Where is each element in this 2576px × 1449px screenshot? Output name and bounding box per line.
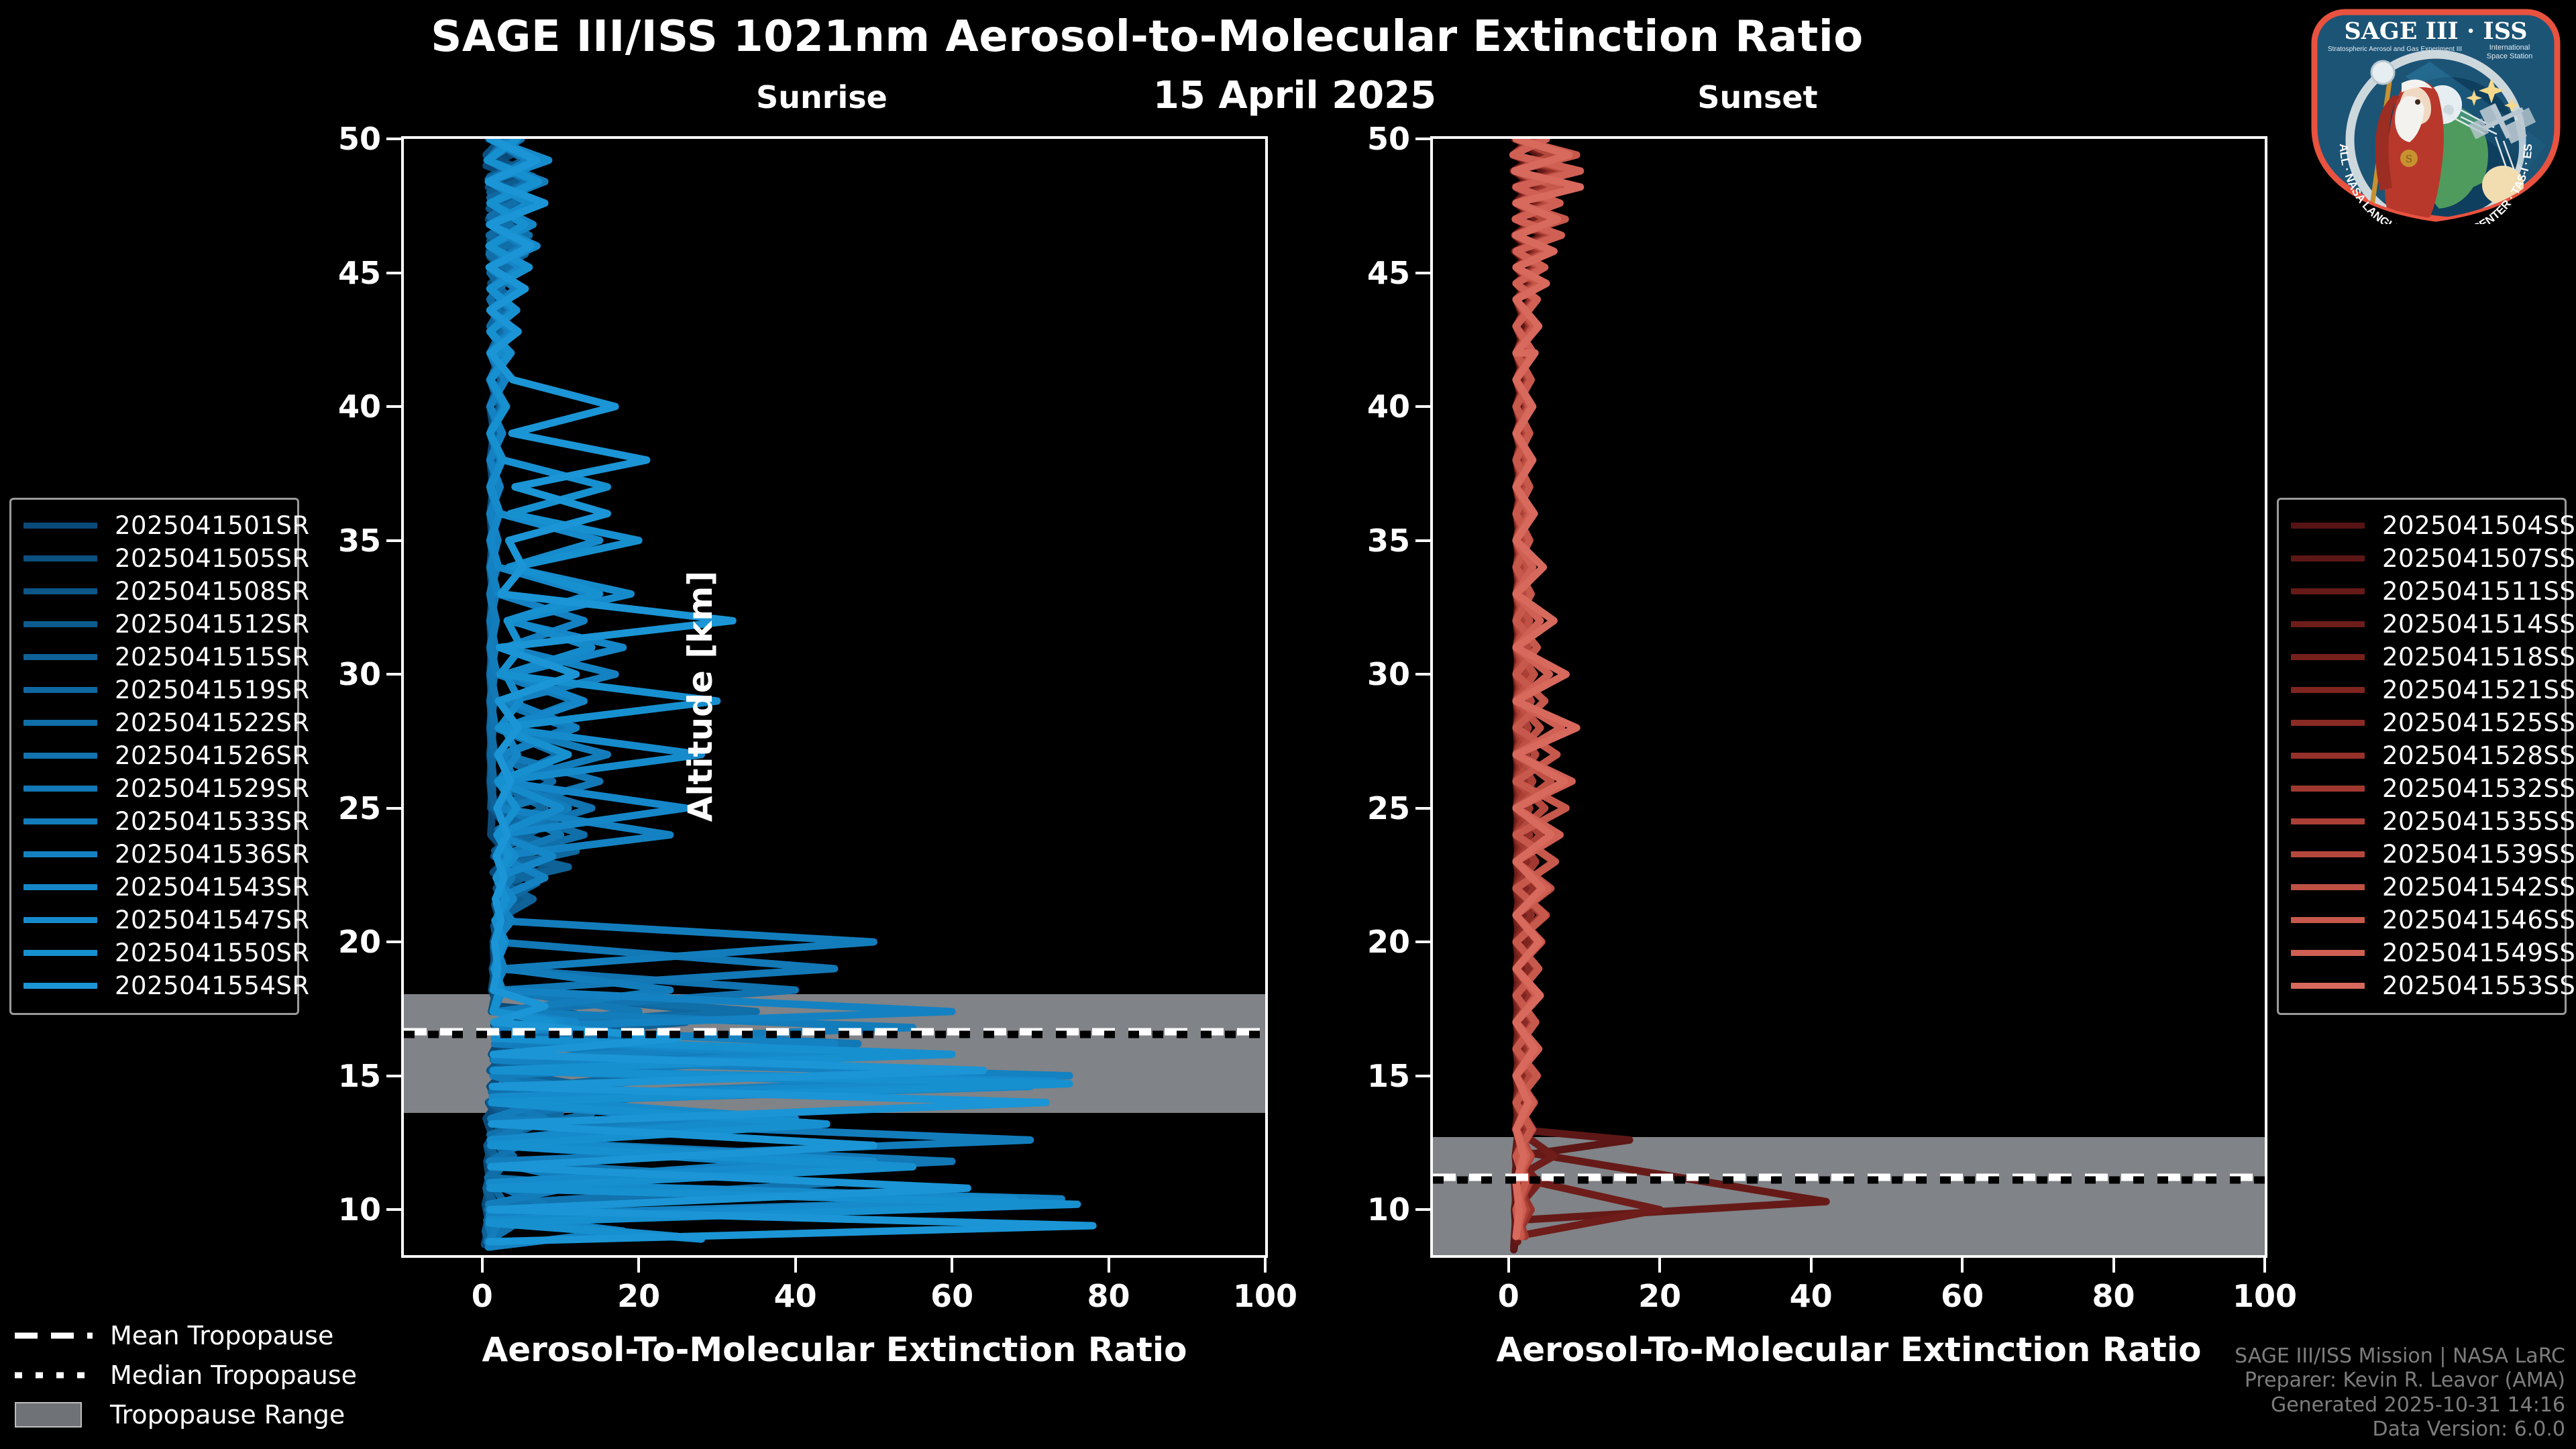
legend-item-2025041528SS[interactable]: 2025041528SS (2291, 739, 2553, 772)
legend-label: 2025041542SS (2382, 873, 2575, 902)
x-axis-tick-label: 100 (2204, 1278, 2325, 1314)
legend-label: 2025041518SS (2382, 643, 2575, 672)
legend-sunrise-events[interactable]: 2025041501SR2025041505SR2025041508SR2025… (9, 498, 299, 1015)
legend-label: 2025041507SS (2382, 544, 2575, 573)
y-axis-tick-label: 30 (1330, 656, 1410, 692)
legend-item-2025041542SS[interactable]: 2025041542SS (2291, 871, 2553, 904)
color-swatch-icon (23, 588, 97, 594)
attribution-line: Generated 2025-10-31 14:16 (2235, 1393, 2565, 1418)
color-swatch-icon (23, 753, 97, 759)
y-axis-tick-mark (1415, 1075, 1430, 1077)
legend-label: 2025041529SR (115, 774, 310, 803)
y-axis-tick-mark (1415, 941, 1430, 943)
legend-item-tropopause-range: Tropopause Range (15, 1395, 364, 1434)
legend-label: 2025041536SR (115, 840, 310, 869)
y-axis-tick-mark (1415, 807, 1430, 810)
color-swatch-icon (23, 818, 97, 824)
color-swatch-icon (23, 917, 97, 923)
legend-item-2025041519SR[interactable]: 2025041519SR (23, 674, 285, 706)
legend-item-2025041504SS[interactable]: 2025041504SS (2291, 509, 2553, 542)
legend-item-2025041526SR[interactable]: 2025041526SR (23, 739, 285, 772)
legend-item-2025041546SS[interactable]: 2025041546SS (2291, 904, 2553, 936)
legend-item-2025041539SS[interactable]: 2025041539SS (2291, 838, 2553, 871)
legend-item-2025041554SR[interactable]: 2025041554SR (23, 969, 285, 1002)
x-axis-tick-mark (1658, 1258, 1661, 1273)
legend-label: 2025041522SR (115, 708, 310, 737)
y-axis-tick-mark (1415, 405, 1430, 408)
legend-label: 2025041526SR (115, 741, 310, 770)
y-axis-tick-label: 10 (1330, 1191, 1410, 1228)
legend-label: 2025041514SS (2382, 610, 2575, 639)
legend-item-2025041529SR[interactable]: 2025041529SR (23, 772, 285, 805)
legend-item-2025041543SR[interactable]: 2025041543SR (23, 871, 285, 904)
legend-label: 2025041511SS (2382, 577, 2575, 606)
legend-label: 2025041535SS (2382, 807, 2575, 836)
y-axis-tick-label: 40 (1330, 388, 1410, 425)
legend-item-2025041507SS[interactable]: 2025041507SS (2291, 542, 2553, 575)
legend-item-2025041549SS[interactable]: 2025041549SS (2291, 936, 2553, 969)
legend-label: Mean Tropopause (110, 1321, 333, 1350)
color-swatch-icon (23, 983, 97, 989)
color-swatch-icon (23, 786, 97, 792)
color-swatch-icon (2291, 818, 2365, 824)
x-axis-tick-mark (1961, 1258, 1964, 1273)
color-swatch-icon (23, 851, 97, 857)
attribution-block: SAGE III/ISS Mission | NASA LaRC Prepare… (2235, 1344, 2565, 1442)
axes-sunset: 101520253035404550020406080100Aerosol-To… (0, 0, 2576, 1449)
legend-label: 2025041539SS (2382, 840, 2575, 869)
legend-label: 2025041525SS (2382, 708, 2575, 737)
color-swatch-icon (2291, 687, 2365, 693)
color-swatch-icon (2291, 555, 2365, 561)
color-swatch-icon (23, 950, 97, 956)
color-swatch-icon (23, 720, 97, 726)
filled-box-icon (15, 1406, 93, 1424)
legend-item-2025041512SR[interactable]: 2025041512SR (23, 608, 285, 641)
y-axis-tick-label: 15 (1330, 1058, 1410, 1094)
legend-label: 2025041549SS (2382, 938, 2575, 967)
x-axis-tick-label: 80 (2053, 1278, 2174, 1314)
legend-label: 2025041508SR (115, 577, 310, 606)
legend-label: 2025041519SR (115, 676, 310, 704)
color-swatch-icon (23, 654, 97, 660)
y-axis-tick-label: 50 (1330, 121, 1410, 157)
color-swatch-icon (2291, 950, 2365, 956)
legend-label: 2025041504SS (2382, 511, 2575, 540)
legend-item-2025041505SR[interactable]: 2025041505SR (23, 542, 285, 575)
color-swatch-icon (2291, 654, 2365, 660)
legend-label: 2025041532SS (2382, 774, 2575, 803)
legend-item-2025041536SR[interactable]: 2025041536SR (23, 838, 285, 871)
legend-item-2025041511SS[interactable]: 2025041511SS (2291, 575, 2553, 608)
x-axis-title: Aerosol-To-Molecular Extinction Ratio (1430, 1330, 2267, 1369)
legend-label: 2025041554SR (115, 971, 310, 1000)
legend-item-2025041508SR[interactable]: 2025041508SR (23, 575, 285, 608)
legend-label: 2025041533SR (115, 807, 310, 836)
y-axis-tick-mark (1415, 673, 1430, 676)
color-swatch-icon (23, 621, 97, 627)
legend-label: 2025041547SR (115, 906, 310, 934)
legend-label: 2025041515SR (115, 643, 310, 672)
color-swatch-icon (2291, 753, 2365, 759)
y-axis-tick-mark (1415, 539, 1430, 542)
legend-item-2025041514SS[interactable]: 2025041514SS (2291, 608, 2553, 641)
legend-label: 2025041528SS (2382, 741, 2575, 770)
legend-label: 2025041546SS (2382, 906, 2575, 934)
y-axis-tick-label: 45 (1330, 255, 1410, 291)
legend-label: Tropopause Range (110, 1400, 345, 1430)
color-swatch-icon (2291, 884, 2365, 890)
y-axis-tick-label: 35 (1330, 523, 1410, 559)
color-swatch-icon (23, 523, 97, 529)
dotted-line-icon (15, 1366, 93, 1384)
attribution-line: Data Version: 6.0.0 (2235, 1417, 2565, 1442)
legend-label: 2025041512SR (115, 610, 310, 639)
x-axis-tick-label: 20 (1599, 1278, 1720, 1314)
dashed-line-icon (15, 1327, 93, 1344)
legend-item-2025041525SS[interactable]: 2025041525SS (2291, 706, 2553, 739)
legend-item-2025041532SS[interactable]: 2025041532SS (2291, 772, 2553, 805)
legend-sunset-events[interactable]: 2025041504SS2025041507SS2025041511SS2025… (2277, 498, 2567, 1015)
legend-item-median-tropopause: Median Tropopause (15, 1355, 364, 1395)
x-axis-tick-mark (2112, 1258, 2115, 1273)
legend-item-2025041535SS[interactable]: 2025041535SS (2291, 805, 2553, 838)
legend-label: 2025041550SR (115, 938, 310, 967)
x-axis-tick-mark (1810, 1258, 1813, 1273)
x-axis-tick-mark (1507, 1258, 1510, 1273)
legend-tropopause: Mean Tropopause Median Tropopause Tropop… (15, 1316, 364, 1434)
legend-item-2025041553SS[interactable]: 2025041553SS (2291, 969, 2553, 1002)
color-swatch-icon (2291, 588, 2365, 594)
y-axis-tick-label: 20 (1330, 924, 1410, 960)
color-swatch-icon (2291, 720, 2365, 726)
color-swatch-icon (2291, 786, 2365, 792)
color-swatch-icon (2291, 621, 2365, 627)
x-axis-tick-label: 0 (1448, 1278, 1569, 1314)
legend-label: 2025041505SR (115, 544, 310, 573)
legend-label: 2025041521SS (2382, 676, 2575, 704)
color-swatch-icon (2291, 851, 2365, 857)
legend-label: 2025041553SS (2382, 971, 2575, 1000)
color-swatch-icon (23, 687, 97, 693)
legend-item-2025041533SR[interactable]: 2025041533SR (23, 805, 285, 838)
legend-item-2025041522SR[interactable]: 2025041522SR (23, 706, 285, 739)
x-axis-tick-label: 60 (1902, 1278, 2023, 1314)
color-swatch-icon (2291, 917, 2365, 923)
color-swatch-icon (2291, 523, 2365, 529)
legend-item-2025041515SR[interactable]: 2025041515SR (23, 641, 285, 674)
legend-label: Median Tropopause (110, 1360, 357, 1390)
y-axis-tick-mark (1415, 1208, 1430, 1211)
y-axis-tick-mark (1415, 138, 1430, 140)
legend-item-2025041518SS[interactable]: 2025041518SS (2291, 641, 2553, 674)
legend-label: 2025041501SR (115, 511, 310, 540)
color-swatch-icon (2291, 983, 2365, 989)
y-axis-tick-label: 25 (1330, 790, 1410, 826)
legend-item-2025041521SS[interactable]: 2025041521SS (2291, 674, 2553, 706)
attribution-line: Preparer: Kevin R. Leavor (AMA) (2235, 1368, 2565, 1393)
attribution-line: SAGE III/ISS Mission | NASA LaRC (2235, 1344, 2565, 1369)
legend-label: 2025041543SR (115, 873, 310, 902)
y-axis-tick-mark (1415, 272, 1430, 274)
x-axis-tick-label: 40 (1751, 1278, 1872, 1314)
color-swatch-icon (23, 555, 97, 561)
x-axis-tick-mark (2263, 1258, 2266, 1273)
legend-item-mean-tropopause: Mean Tropopause (15, 1316, 364, 1355)
legend-item-2025041547SR[interactable]: 2025041547SR (23, 904, 285, 936)
legend-item-2025041501SR[interactable]: 2025041501SR (23, 509, 285, 542)
y-axis-title: Altitude [km] (681, 136, 720, 1257)
color-swatch-icon (23, 884, 97, 890)
legend-item-2025041550SR[interactable]: 2025041550SR (23, 936, 285, 969)
